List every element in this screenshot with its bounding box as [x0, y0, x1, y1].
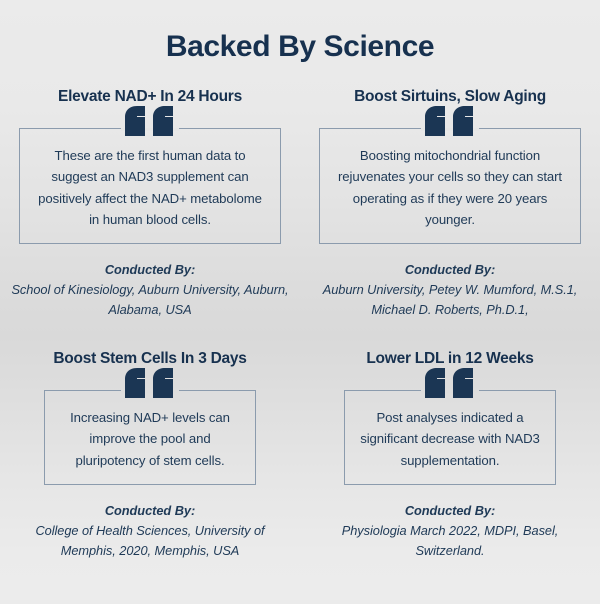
conducted-by-label: Conducted By: — [10, 501, 290, 521]
quote-box: Post analyses indicated a significant de… — [344, 390, 556, 485]
double-quote-icon — [116, 368, 184, 398]
quote-text: These are the first human data to sugges… — [32, 145, 268, 231]
study-card-heading: Boost Stem Cells In 3 Days — [53, 350, 246, 368]
study-card: Elevate NAD+ In 24 Hours These are the f… — [0, 80, 300, 342]
quote-box: Boosting mitochondrial function rejuvena… — [319, 128, 581, 245]
conducted-by-label: Conducted By: — [310, 501, 590, 521]
quote-text: Post analyses indicated a significant de… — [357, 407, 543, 471]
quote-container: Post analyses indicated a significant de… — [310, 390, 590, 485]
conducted-by-source: School of Kinesiology, Auburn University… — [10, 280, 290, 320]
infographic-page: Backed By Science Elevate NAD+ In 24 Hou… — [0, 0, 600, 600]
conducted-by-source: Auburn University, Petey W. Mumford, M.S… — [310, 280, 590, 320]
page-title: Backed By Science — [0, 30, 600, 63]
study-card-heading: Boost Sirtuins, Slow Aging — [354, 88, 546, 106]
attribution: Conducted By: School of Kinesiology, Aub… — [10, 260, 290, 319]
quote-container: Boosting mitochondrial function rejuvena… — [310, 128, 590, 245]
conducted-by-source: College of Health Sciences, University o… — [10, 521, 290, 561]
study-card: Boost Stem Cells In 3 Days Increasing NA… — [0, 342, 300, 604]
attribution: Conducted By: College of Health Sciences… — [10, 501, 290, 560]
study-card-heading: Lower LDL in 12 Weeks — [366, 350, 533, 368]
study-card: Lower LDL in 12 Weeks Post analyses indi… — [300, 342, 600, 604]
quote-container: These are the first human data to sugges… — [10, 128, 290, 245]
study-card-heading: Elevate NAD+ In 24 Hours — [58, 88, 242, 106]
quote-text: Boosting mitochondrial function rejuvena… — [332, 145, 568, 231]
conducted-by-source: Physiologia March 2022, MDPI, Basel, Swi… — [310, 521, 590, 561]
quote-text: Increasing NAD+ levels can improve the p… — [57, 407, 243, 471]
quote-box: These are the first human data to sugges… — [19, 128, 281, 245]
double-quote-icon — [116, 106, 184, 136]
attribution: Conducted By: Physiologia March 2022, MD… — [310, 501, 590, 560]
study-card: Boost Sirtuins, Slow Aging Boosting mito… — [300, 80, 600, 342]
double-quote-icon — [416, 368, 484, 398]
quote-container: Increasing NAD+ levels can improve the p… — [10, 390, 290, 485]
study-card-grid: Elevate NAD+ In 24 Hours These are the f… — [0, 80, 600, 604]
quote-box: Increasing NAD+ levels can improve the p… — [44, 390, 256, 485]
conducted-by-label: Conducted By: — [10, 260, 290, 280]
double-quote-icon — [416, 106, 484, 136]
conducted-by-label: Conducted By: — [310, 260, 590, 280]
attribution: Conducted By: Auburn University, Petey W… — [310, 260, 590, 319]
